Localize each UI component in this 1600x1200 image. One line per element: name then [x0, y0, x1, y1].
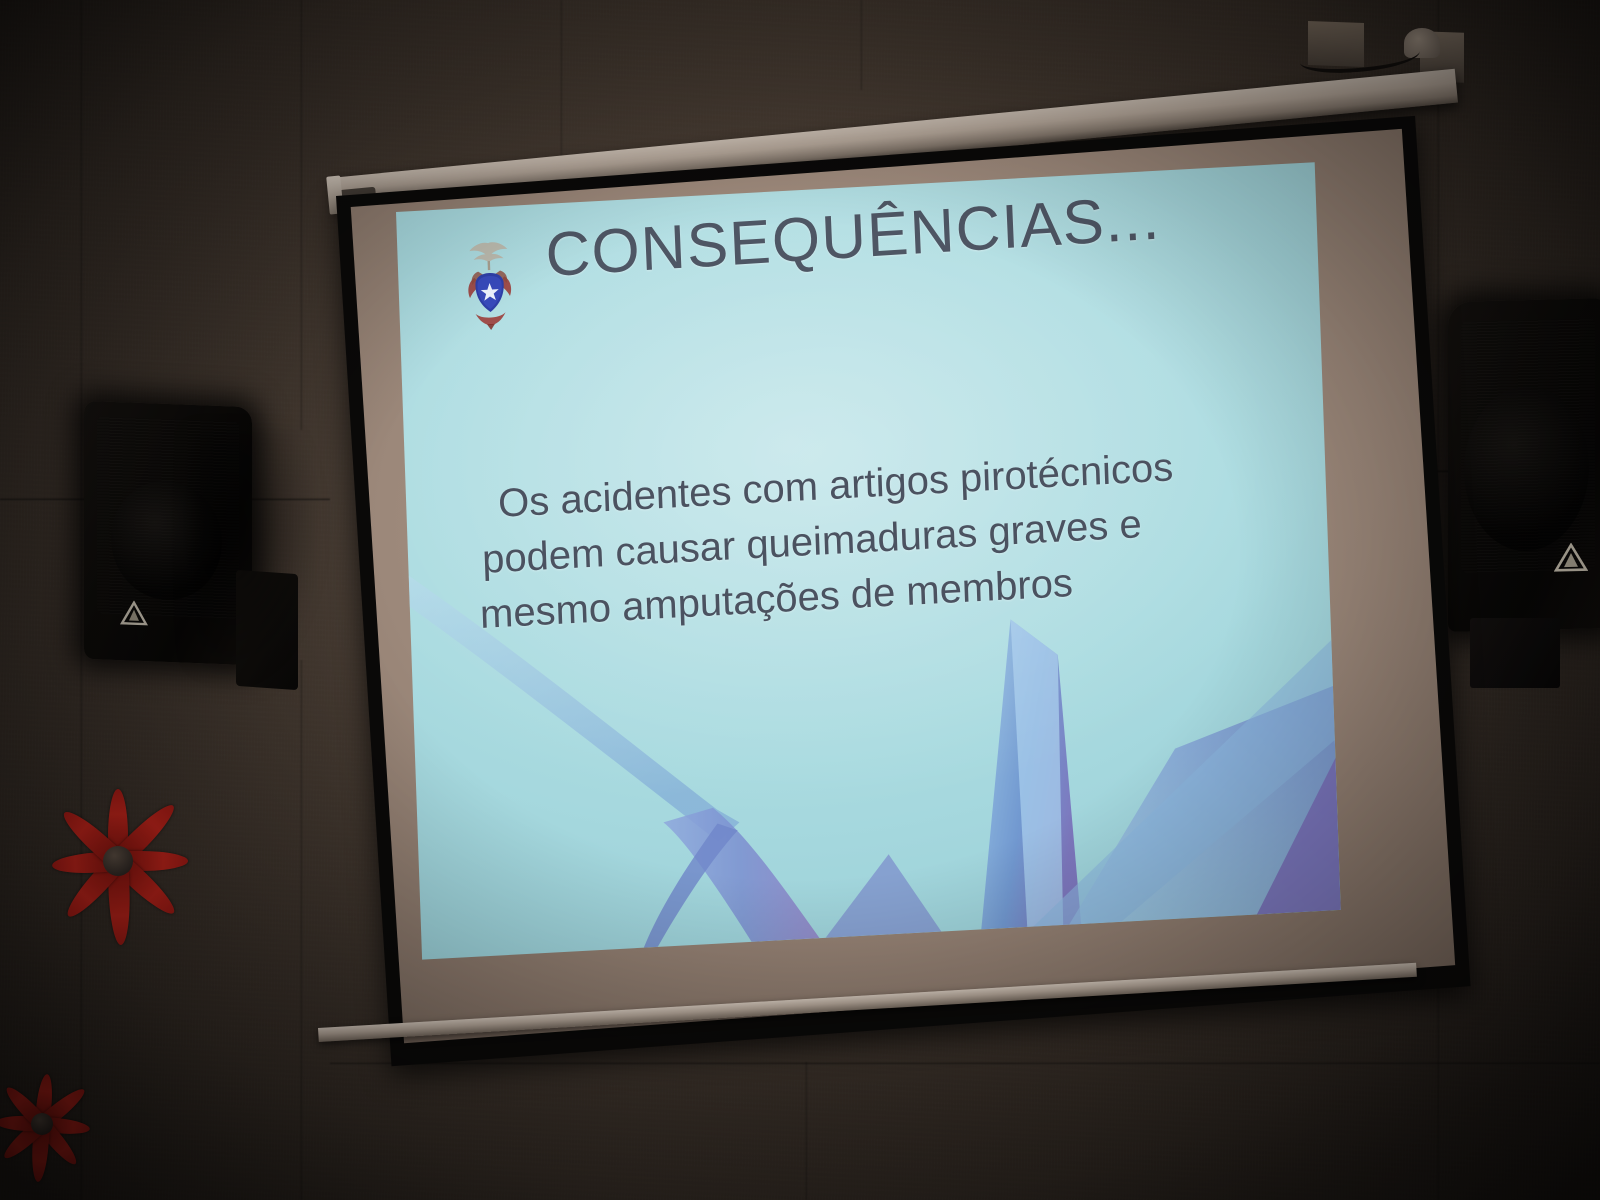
flower-center — [31, 1113, 53, 1135]
wall-seam-horizontal — [330, 1062, 1600, 1065]
wall-seam-vertical — [300, 660, 303, 1200]
red-star-flower-small — [0, 1062, 90, 1186]
red-star-flower-large — [50, 768, 186, 954]
speaker-left-shadow — [190, 430, 320, 680]
wall-seam-vertical — [1437, 0, 1440, 1200]
speaker-triangle-logo-icon — [120, 600, 148, 627]
wall-seam-vertical — [860, 0, 863, 90]
wall-seam-vertical — [300, 0, 303, 430]
speaker-triangle-logo-icon — [1554, 543, 1588, 574]
wall-mounted-pa-speaker-right — [1448, 298, 1600, 632]
wall-seam-vertical — [560, 0, 563, 170]
speaker-right-mount-bracket — [1470, 618, 1560, 688]
wall-seam-vertical — [805, 1062, 808, 1200]
flower-center — [103, 846, 133, 876]
wall-seam-vertical — [80, 0, 83, 1200]
photo-scene: CONSEQUÊNCIAS... Os acidentes com artigo… — [0, 0, 1600, 1200]
